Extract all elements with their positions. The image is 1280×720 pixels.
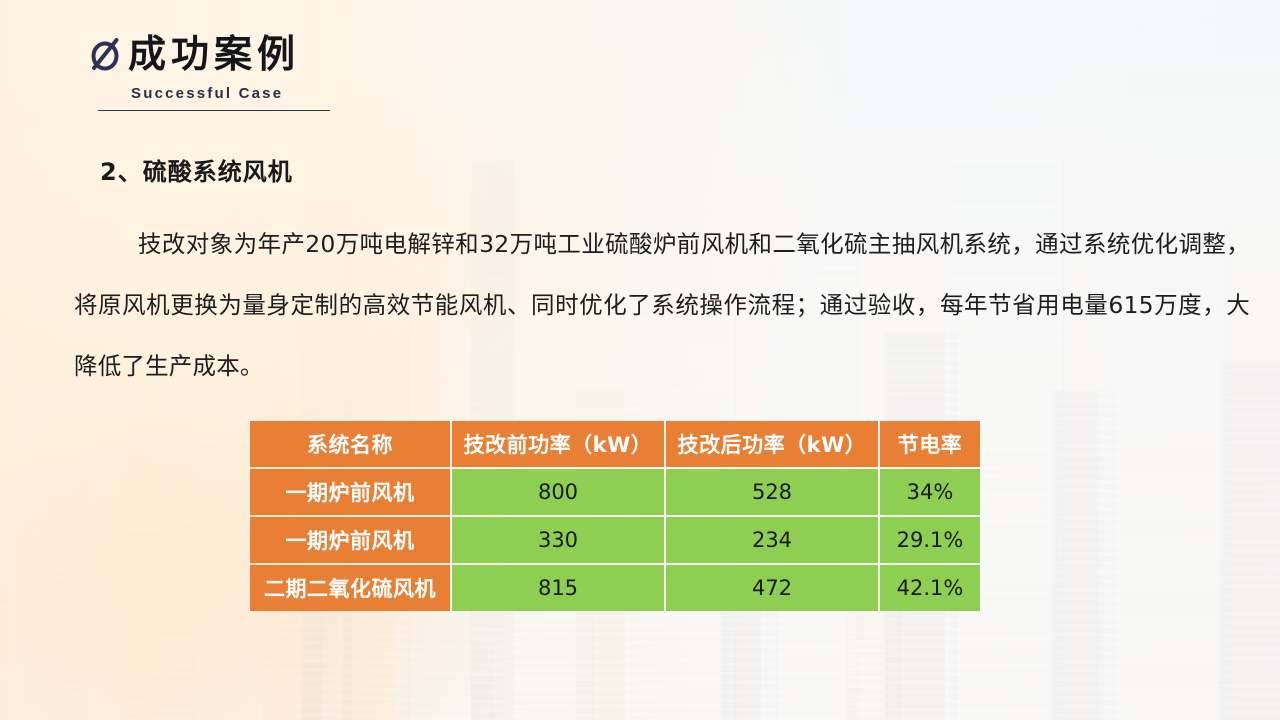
- page-subtitle: Successful Case: [131, 85, 330, 102]
- cell-saving-rate: 29.1%: [880, 517, 980, 563]
- results-table-wrapper: 系统名称 技改前功率（kW） 技改后功率（kW） 节电率 一期炉前风机 800 …: [248, 419, 982, 613]
- cell-saving-rate: 34%: [880, 469, 980, 515]
- col-header-saving-rate: 节电率: [880, 421, 980, 467]
- slashed-circle-icon: [88, 34, 122, 74]
- table-body: 一期炉前风机 800 528 34% 一期炉前风机 330 234 29.1% …: [250, 469, 980, 611]
- cell-power-after: 528: [666, 469, 878, 515]
- cell-power-before: 815: [452, 565, 664, 611]
- col-header-power-after: 技改后功率（kW）: [666, 421, 878, 467]
- cell-power-after: 472: [666, 565, 878, 611]
- table-row: 一期炉前风机 800 528 34%: [250, 469, 980, 515]
- body-paragraph: 技改对象为年产20万吨电解锌和32万吨工业硫酸炉前风机和二氧化硫主抽风机系统，通…: [74, 214, 1250, 397]
- table-header-row: 系统名称 技改前功率（kW） 技改后功率（kW） 节电率: [250, 421, 980, 467]
- cell-power-before: 330: [452, 517, 664, 563]
- title-row: 成功案例: [88, 34, 330, 74]
- title-divider: [98, 110, 330, 111]
- table-head: 系统名称 技改前功率（kW） 技改后功率（kW） 节电率: [250, 421, 980, 467]
- cell-power-before: 800: [452, 469, 664, 515]
- cell-power-after: 234: [666, 517, 878, 563]
- section-heading: 2、硫酸系统风机: [100, 152, 293, 187]
- cell-system-name: 一期炉前风机: [250, 517, 450, 563]
- col-header-power-before: 技改前功率（kW）: [452, 421, 664, 467]
- page-title: 成功案例: [128, 35, 300, 73]
- cell-saving-rate: 42.1%: [880, 565, 980, 611]
- col-header-system-name: 系统名称: [250, 421, 450, 467]
- slide-header: 成功案例 Successful Case: [88, 34, 330, 111]
- table-row: 一期炉前风机 330 234 29.1%: [250, 517, 980, 563]
- cell-system-name: 二期二氧化硫风机: [250, 565, 450, 611]
- cell-system-name: 一期炉前风机: [250, 469, 450, 515]
- results-table: 系统名称 技改前功率（kW） 技改后功率（kW） 节电率 一期炉前风机 800 …: [248, 419, 982, 613]
- slide-canvas: 成功案例 Successful Case 2、硫酸系统风机 技改对象为年产20万…: [0, 0, 1280, 720]
- table-row: 二期二氧化硫风机 815 472 42.1%: [250, 565, 980, 611]
